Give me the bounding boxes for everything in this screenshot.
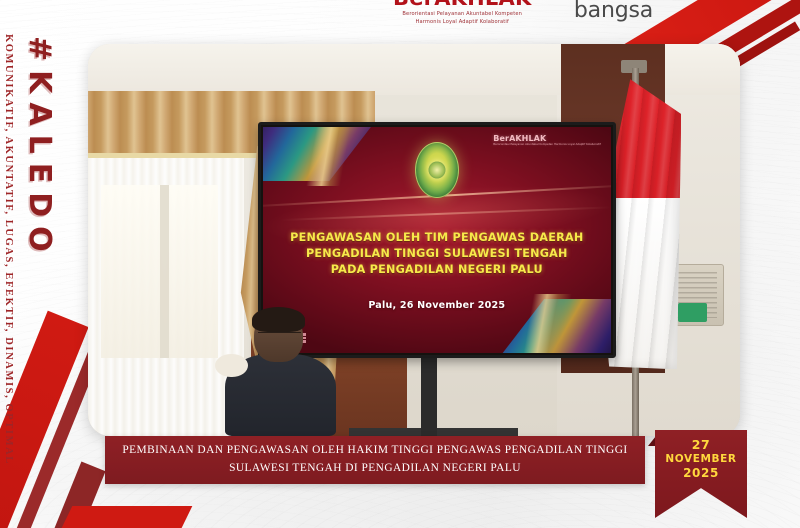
presentation-screen: BerAKHLAK Berorientasi Pelayanan Akuntab… (258, 122, 617, 357)
berakhlak-tagline-line1: Berorientasi Pelayanan Akuntabel Kompete… (393, 11, 531, 19)
date-ribbon: 27 NOVEMBER 2025 (655, 430, 747, 518)
melayani-bangsa-logo: ” melayani bangsa (545, 0, 653, 21)
event-photo: BerAKHLAK Berorientasi Pelayanan Akuntab… (88, 44, 740, 436)
slide-berakhlak-subtext: Berorientasi Pelayanan Akuntabel Kompete… (493, 144, 600, 147)
kaledo-hashtag: #KALEDO (22, 36, 57, 261)
berakhlak-logo: BerAKHLAK Berorientasi Pelayanan Akuntab… (393, 0, 531, 26)
quote-mark-icon: ” (545, 0, 570, 17)
berakhlak-wordmark: BerAKHLAK (393, 0, 531, 9)
decorative-slash-bottom-left-4 (60, 506, 193, 528)
bangsa-text: bangsa (574, 0, 653, 23)
green-wall-label (678, 303, 707, 323)
poster-canvas: BerAKHLAK Berorientasi Pelayanan Akuntab… (0, 0, 800, 528)
slide-title-line2: PENGADILAN TINGGI SULAWESI TENGAH (271, 246, 604, 262)
caption-text: PEMBINAAN DAN PENGAWASAN OLEH HAKIM TING… (108, 442, 641, 477)
tv-stand (421, 358, 438, 436)
berakhlak-wordmark-text: BerAKHLAK (393, 0, 531, 10)
attendee-glasses (258, 332, 301, 340)
melayani-bangsa-wordmark: melayani bangsa (574, 0, 653, 21)
caption-bar: PEMBINAAN DAN PENGAWASAN OLEH HAKIM TING… (105, 436, 645, 484)
slide-berakhlak-text: BerAKHLAK (493, 134, 546, 143)
date-ribbon-content: 27 NOVEMBER 2025 (655, 430, 747, 518)
slide-title-line1: PENGAWASAN OLEH TIM PENGAWAS DAERAH (271, 230, 604, 246)
mahkamah-agung-emblem-ring (415, 142, 459, 198)
slide-date: Palu, 26 November 2025 (263, 300, 612, 311)
attendee-collar (215, 354, 248, 378)
slide-content: BerAKHLAK Berorientasi Pelayanan Akuntab… (263, 127, 612, 352)
ribbon-month: NOVEMBER (665, 453, 736, 466)
date-ribbon-tail (648, 436, 656, 446)
berakhlak-tagline-line2: Harmonis Loyal Adaptif Kolaboratif (393, 19, 531, 27)
slide-title: PENGAWASAN OLEH TIM PENGAWAS DAERAH PENG… (263, 230, 612, 278)
attendee-hair (252, 307, 305, 332)
caption-line1: PEMBINAAN DAN PENGAWASAN OLEH HAKIM TING… (122, 444, 627, 456)
photo-scene: BerAKHLAK Berorientasi Pelayanan Akuntab… (88, 44, 740, 436)
header-logo-strip: BerAKHLAK Berorientasi Pelayanan Akuntab… (0, 0, 800, 46)
slide-berakhlak-badge: BerAKHLAK Berorientasi Pelayanan Akuntab… (493, 135, 600, 147)
kaledo-values-text: KOMUNIKATIF, AKUNTATIF, LUGAS, EFEKTIF, … (3, 34, 14, 465)
caption-line2: SULAWESI TENGAH DI PENGADILAN NEGERI PAL… (229, 462, 521, 474)
left-text-rail: KOMUNIKATIF, AKUNTATIF, LUGAS, EFEKTIF, … (0, 0, 62, 528)
ribbon-year: 2025 (683, 466, 719, 481)
slide-gold-stripe-top-left (263, 127, 382, 186)
ribbon-day: 27 (692, 437, 711, 453)
slide-title-line3: PADA PENGADILAN NEGERI PALU (271, 262, 604, 278)
berakhlak-tagline: Berorientasi Pelayanan Akuntabel Kompete… (393, 11, 531, 26)
window-mullion (160, 185, 170, 357)
